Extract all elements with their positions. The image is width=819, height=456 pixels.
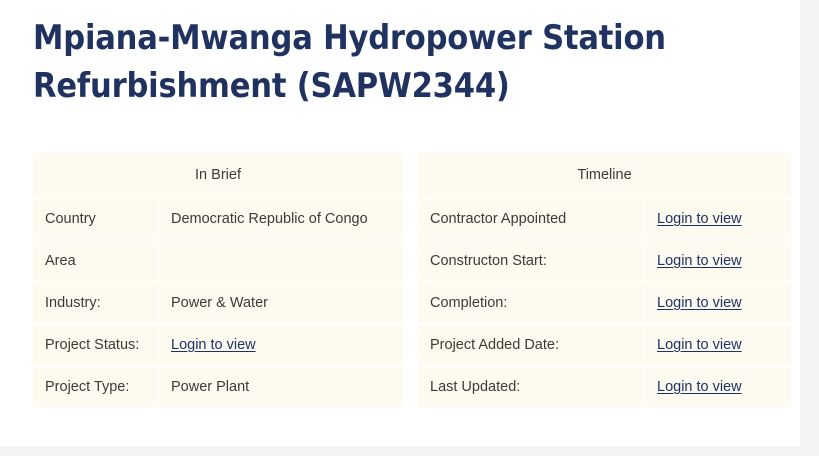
login-to-view-link[interactable]: Login to view [657, 253, 742, 269]
in_brief-row-value: Power & Water [159, 283, 403, 323]
in_brief-row-value [159, 241, 403, 281]
in_brief-row-value: Power Plant [159, 367, 403, 407]
timeline-row-value[interactable]: Login to view [645, 325, 791, 365]
in_brief-row-value[interactable]: Login to view [159, 325, 403, 365]
timeline-row-value[interactable]: Login to view [645, 283, 791, 323]
page-viewport: Mpiana-Mwanga Hydropower Station Refurbi… [0, 0, 819, 456]
in_brief-row-label: Industry: [33, 283, 158, 323]
table-row: Completion:Login to view [418, 283, 791, 323]
page-bottom-gutter [0, 446, 819, 456]
login-to-view-link[interactable]: Login to view [657, 337, 742, 353]
timeline-header-label: Timeline [418, 153, 791, 197]
table-row: Last Updated:Login to view [418, 367, 791, 407]
content-card: Mpiana-Mwanga Hydropower Station Refurbi… [0, 0, 800, 446]
timeline-row-label: Constructon Start: [418, 241, 644, 281]
login-to-view-link[interactable]: Login to view [657, 295, 742, 311]
timeline-row-value[interactable]: Login to view [645, 241, 791, 281]
in-brief-table: In Brief CountryDemocratic Republic of C… [32, 151, 404, 409]
timeline-table-head: Timeline [418, 153, 791, 197]
in-brief-table-body: CountryDemocratic Republic of CongoAreaI… [33, 199, 403, 407]
table-row: Project Type:Power Plant [33, 367, 403, 407]
table-row: Constructon Start:Login to view [418, 241, 791, 281]
timeline-row-value[interactable]: Login to view [645, 199, 791, 239]
page-right-gutter [800, 0, 819, 456]
in-brief-header-row: In Brief [33, 153, 403, 197]
in_brief-row-label: Country [33, 199, 158, 239]
table-row: Project Status:Login to view [33, 325, 403, 365]
timeline-row-label: Last Updated: [418, 367, 644, 407]
timeline-table-body: Contractor AppointedLogin to viewConstru… [418, 199, 791, 407]
timeline-header-row: Timeline [418, 153, 791, 197]
timeline-row-label: Completion: [418, 283, 644, 323]
login-to-view-link[interactable]: Login to view [171, 337, 256, 353]
page-title: Mpiana-Mwanga Hydropower Station Refurbi… [33, 14, 733, 110]
timeline-row-value[interactable]: Login to view [645, 367, 791, 407]
login-to-view-link[interactable]: Login to view [657, 211, 742, 227]
timeline-table: Timeline Contractor AppointedLogin to vi… [417, 151, 792, 409]
table-row: Industry:Power & Water [33, 283, 403, 323]
in-brief-table-head: In Brief [33, 153, 403, 197]
table-row: Contractor AppointedLogin to view [418, 199, 791, 239]
in_brief-row-label: Project Type: [33, 367, 158, 407]
in_brief-row-label: Project Status: [33, 325, 158, 365]
timeline-row-label: Project Added Date: [418, 325, 644, 365]
login-to-view-link[interactable]: Login to view [657, 379, 742, 395]
in-brief-header-label: In Brief [33, 153, 403, 197]
in_brief-row-label: Area [33, 241, 158, 281]
table-row: Project Added Date:Login to view [418, 325, 791, 365]
timeline-row-label: Contractor Appointed [418, 199, 644, 239]
in_brief-row-value: Democratic Republic of Congo [159, 199, 403, 239]
table-row: CountryDemocratic Republic of Congo [33, 199, 403, 239]
table-row: Area [33, 241, 403, 281]
